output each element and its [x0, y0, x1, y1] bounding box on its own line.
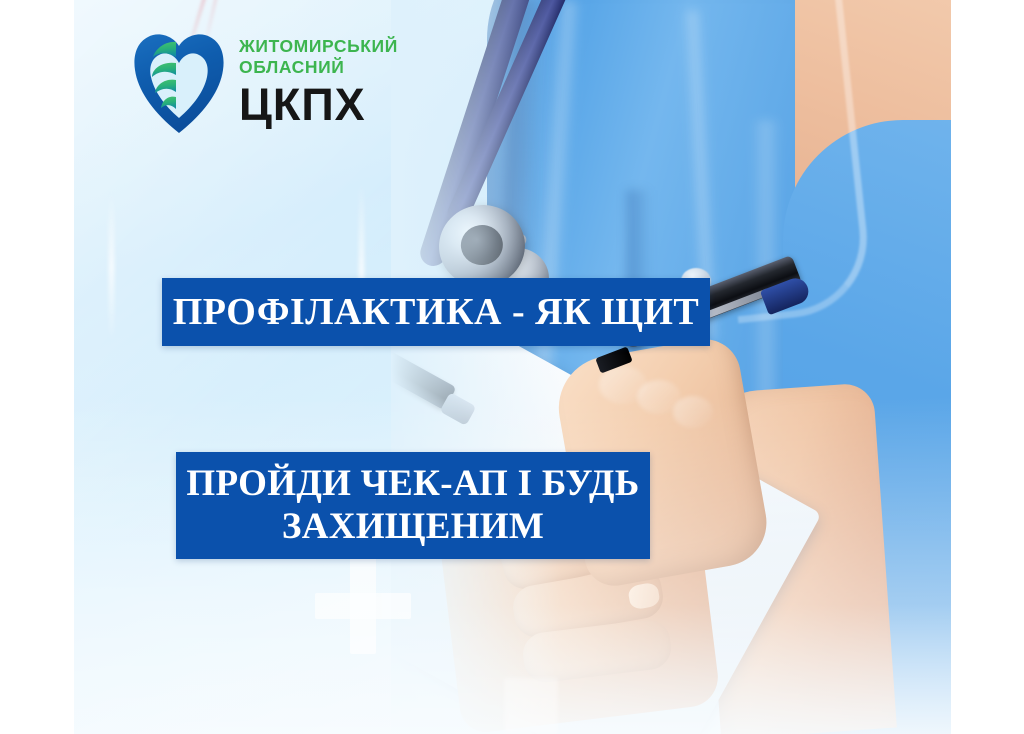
cross-horizontal-bar [315, 593, 411, 619]
logo-wordmark: ЖИТОМИРСЬКИЙ ОБЛАСНИЙ ЦКПХ [239, 38, 398, 127]
callout-banner: ПРОЙДИ ЧЕК-АП І БУДЬ ЗАХИЩЕНИМ [176, 452, 650, 559]
shield-heart-logo-icon [133, 30, 225, 135]
poster-root: ЖИТОМИРСЬКИЙ ОБЛАСНИЙ ЦКПХ ПРОФІЛАКТИКА … [0, 0, 1024, 734]
headline-banner-text: ПРОФІЛАКТИКА - ЯК ЩИТ [173, 290, 700, 334]
medical-professional-photo [391, 0, 951, 734]
poster-artwork: ЖИТОМИРСЬКИЙ ОБЛАСНИЙ ЦКПХ ПРОФІЛАКТИКА … [74, 0, 951, 734]
organization-logo: ЖИТОМИРСЬКИЙ ОБЛАСНИЙ ЦКПХ [133, 30, 398, 135]
logo-line-2: ОБЛАСНИЙ [239, 59, 398, 77]
background-ghost-rectangle [504, 678, 558, 734]
medical-cross-watermark [315, 558, 411, 654]
knuckle [673, 396, 713, 428]
light-wisp [109, 192, 114, 342]
headline-banner: ПРОФІЛАКТИКА - ЯК ЩИТ [162, 278, 710, 346]
callout-banner-text: ПРОЙДИ ЧЕК-АП І БУДЬ ЗАХИЩЕНИМ [186, 463, 639, 547]
logo-line-1: ЖИТОМИРСЬКИЙ [239, 38, 398, 56]
logo-abbreviation: ЦКПХ [239, 82, 398, 127]
